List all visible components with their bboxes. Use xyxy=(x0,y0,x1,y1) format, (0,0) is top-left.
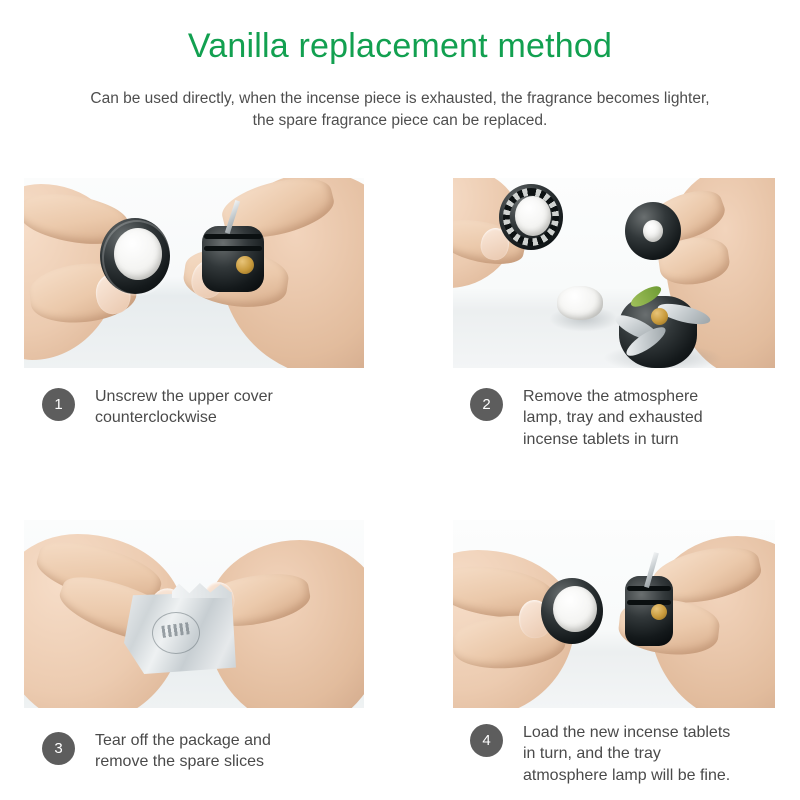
step-1-text: Unscrew the upper cover counterclockwise xyxy=(95,386,273,429)
page-title: Vanilla replacement method xyxy=(0,28,800,65)
photo-tear-package xyxy=(24,520,364,708)
page-subtitle: Can be used directly, when the incense p… xyxy=(88,88,712,133)
step-3-text: Tear off the package and remove the spar… xyxy=(95,730,271,773)
step-4-photo xyxy=(453,520,775,708)
step-1-caption: 1 Unscrew the upper cover counterclockwi… xyxy=(42,386,372,429)
step-2-photo xyxy=(453,178,775,368)
step-3-caption: 3 Tear off the package and remove the sp… xyxy=(42,730,372,773)
base-thread-2 xyxy=(627,600,671,605)
step-1-badge: 1 xyxy=(42,388,75,421)
tray-ring-hole xyxy=(643,220,663,242)
step-4-text: Load the new incense tablets in turn, an… xyxy=(523,722,730,786)
gold-contact-center xyxy=(651,308,668,325)
step-2-text: Remove the atmosphere lamp, tray and exh… xyxy=(523,386,703,450)
infographic-page: Vanilla replacement method Can be used d… xyxy=(0,0,800,800)
step-3-badge: 3 xyxy=(42,732,75,765)
step-2-caption: 2 Remove the atmosphere lamp, tray and e… xyxy=(470,386,780,450)
step-1-photo xyxy=(24,178,364,368)
step-3-photo xyxy=(24,520,364,708)
base-thread-2 xyxy=(204,246,262,251)
new-incense-tablet xyxy=(553,586,597,632)
lamp-cap-vents xyxy=(503,188,559,246)
photo-remove-parts xyxy=(453,178,775,368)
cap-rim-highlight xyxy=(102,220,172,296)
gold-contact xyxy=(236,256,254,274)
photo-unscrew-cover xyxy=(24,178,364,368)
used-incense-tablet xyxy=(557,286,603,320)
base-thread-1 xyxy=(204,234,262,239)
gold-contact xyxy=(651,604,667,620)
step-4-badge: 4 xyxy=(470,724,503,757)
photo-load-tablets xyxy=(453,520,775,708)
step-4-caption: 4 Load the new incense tablets in turn, … xyxy=(470,722,785,786)
step-2-badge: 2 xyxy=(470,388,503,421)
